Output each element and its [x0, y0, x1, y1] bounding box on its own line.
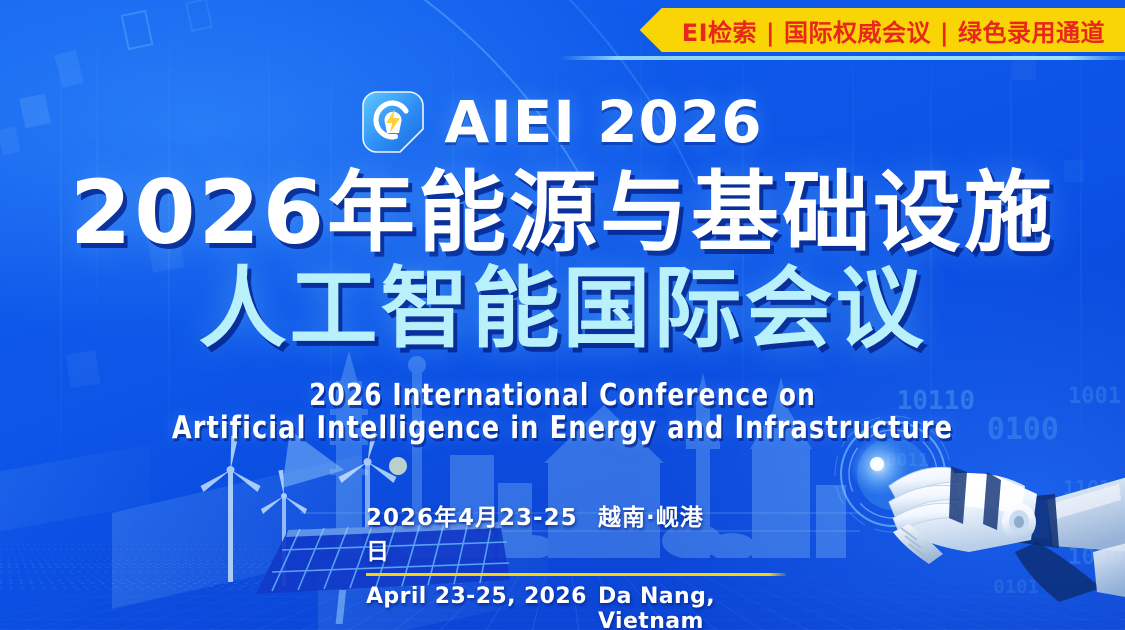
date-chinese: 2026年4月23-25日: [366, 498, 598, 566]
brand-row: AIEI 2026: [0, 86, 1125, 158]
chinese-title-line-2: 人工智能国际会议: [0, 264, 1125, 354]
conference-banner: 10110 0100 1001 0110 1101 0011 1010 0101: [0, 0, 1125, 630]
location-chinese: 越南·岘港: [598, 498, 786, 532]
english-meta-row: April 23-25, 2026 Da Nang, Vietnam: [366, 584, 786, 630]
location-english: Da Nang, Vietnam: [598, 584, 786, 630]
chinese-title: 2026年能源与基础设施 人工智能国际会议: [0, 168, 1125, 354]
date-english: April 23-25, 2026: [366, 584, 598, 609]
date-location-block: 2026年4月23-25日 越南·岘港 April 23-25, 2026 Da…: [366, 498, 786, 630]
energy-bulb-lightning-logo-icon: [362, 91, 424, 153]
english-title-line-1: 2026 International Conference on: [45, 380, 1080, 412]
conference-acronym: AIEI 2026: [444, 88, 762, 156]
english-title: 2026 International Conference on Artific…: [0, 380, 1125, 446]
ei-index-ribbon-badge[interactable]: EI检索 | 国际权威会议 | 绿色录用通道: [640, 8, 1125, 52]
ribbon-label: EI检索 | 国际权威会议 | 绿色录用通道: [682, 13, 1105, 48]
chinese-meta-row: 2026年4月23-25日 越南·岘港: [366, 498, 786, 566]
english-title-line-2: Artificial Intelligence in Energy and In…: [45, 412, 1080, 445]
sun-disc-icon: [389, 457, 407, 475]
chinese-title-line-1: 2026年能源与基础设施: [0, 168, 1125, 258]
meta-divider: [366, 573, 786, 576]
ribbon-underline-decoration: [560, 56, 1125, 60]
